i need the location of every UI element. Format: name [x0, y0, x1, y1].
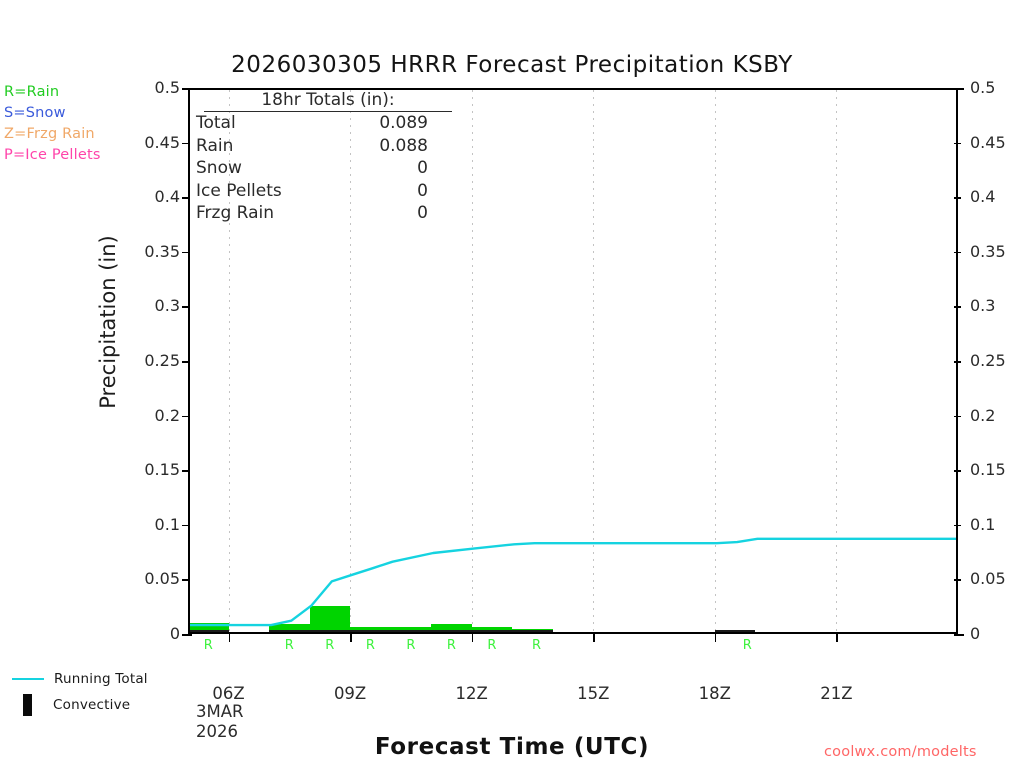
totals-box: 18hr Totals (in): Total0.089Rain0.088Sno… — [196, 90, 496, 225]
precip-type-marker: R — [399, 639, 423, 652]
y-axis-tick-label-left: 0.2 — [120, 408, 180, 424]
y-axis-tick-mark-left — [182, 470, 189, 472]
y-axis-tick-mark-right — [954, 252, 961, 254]
precip-type-marker: R — [525, 639, 549, 652]
y-axis-tick-label-left: 0.05 — [120, 571, 180, 587]
totals-row: Snow0 — [196, 157, 444, 180]
y-axis-tick-mark-left — [182, 306, 189, 308]
y-axis-tick-mark-left — [182, 634, 192, 636]
y-axis-tick-mark-left — [182, 252, 189, 254]
totals-row-label: Frzg Rain — [196, 202, 346, 225]
totals-row: Rain0.088 — [196, 135, 444, 158]
y-axis-tick-mark-right — [954, 361, 961, 363]
totals-row-value: 0 — [346, 157, 444, 180]
chart-legend: Running TotalConvective — [12, 666, 187, 718]
y-axis-tick-mark-right — [954, 143, 961, 145]
y-axis-tick-mark-right — [954, 197, 961, 199]
y-axis-tick-label-left: 0.1 — [120, 517, 180, 533]
y-axis-tick-mark-left — [182, 416, 189, 418]
totals-row-value: 0.088 — [346, 135, 444, 158]
watermark: coolwx.com/modelts — [824, 744, 977, 760]
y-axis-label: Precipitation (in) — [96, 192, 120, 452]
x-axis-tick-mark — [229, 634, 231, 642]
totals-box-title: 18hr Totals (in): — [204, 90, 452, 112]
legend-bar-swatch — [23, 694, 32, 716]
y-axis-tick-label-left: 0.4 — [120, 189, 180, 205]
y-axis-tick-label-left: 0.35 — [120, 244, 180, 260]
totals-row-value: 0 — [346, 180, 444, 203]
totals-row-label: Snow — [196, 157, 346, 180]
y-axis-tick-label-right: 0.1 — [970, 517, 995, 533]
legend-item-label: Running Total — [54, 671, 148, 687]
precip-type-marker: R — [358, 639, 382, 652]
y-axis-tick-label-right: 0.35 — [970, 244, 1006, 260]
totals-row-label: Ice Pellets — [196, 180, 346, 203]
y-axis-tick-label-right: 0.05 — [970, 571, 1006, 587]
legend-item-running-total: Running Total — [12, 666, 187, 692]
page-title: 2026030305 HRRR Forecast Precipitation K… — [0, 52, 1024, 78]
y-axis-tick-label-right: 0.4 — [970, 189, 995, 205]
totals-row-label: Total — [196, 112, 346, 135]
y-axis-tick-mark-right — [954, 634, 964, 636]
y-axis-tick-label-right: 0.5 — [970, 80, 995, 96]
legend-line-swatch — [12, 678, 44, 681]
y-axis-tick-mark-right — [954, 88, 964, 90]
y-axis-tick-label-right: 0.2 — [970, 408, 995, 424]
totals-row: Frzg Rain0 — [196, 202, 444, 225]
y-axis-tick-label-right: 0.45 — [970, 135, 1006, 151]
totals-row-label: Rain — [196, 135, 346, 158]
x-axis-tick-label: 18Z — [675, 684, 755, 703]
totals-row: Ice Pellets0 — [196, 180, 444, 203]
y-axis-tick-mark-left — [182, 197, 189, 199]
totals-row-value: 0 — [346, 202, 444, 225]
totals-row-value: 0.089 — [346, 112, 444, 135]
x-axis-date-line: 3MAR — [196, 702, 244, 722]
y-axis-tick-mark-left — [182, 143, 189, 145]
y-axis-tick-label-left: 0 — [120, 626, 180, 642]
x-axis-tick-label: 12Z — [432, 684, 512, 703]
y-axis-tick-mark-right — [954, 416, 961, 418]
precip-type-marker: R — [318, 639, 342, 652]
y-axis-tick-mark-right — [954, 579, 961, 581]
y-axis-tick-mark-left — [182, 88, 192, 90]
totals-rows: Total0.089Rain0.088Snow0Ice Pellets0Frzg… — [196, 112, 496, 225]
y-axis-tick-label-left: 0.45 — [120, 135, 180, 151]
x-axis-tick-mark — [715, 634, 717, 642]
x-axis-tick-mark — [593, 634, 595, 642]
precip-type-marker: R — [277, 639, 301, 652]
y-axis-tick-label-left: 0.25 — [120, 353, 180, 369]
y-axis-tick-label-right: 0.25 — [970, 353, 1006, 369]
x-axis-tick-label: 21Z — [796, 684, 876, 703]
y-axis-tick-mark-left — [182, 579, 189, 581]
x-axis-tick-mark — [836, 634, 838, 642]
y-axis-tick-mark-right — [954, 470, 961, 472]
x-axis-tick-label: 09Z — [310, 684, 390, 703]
y-axis-tick-label-left: 0.5 — [120, 80, 180, 96]
x-axis-tick-label: 15Z — [553, 684, 633, 703]
y-axis-tick-label-left: 0.15 — [120, 462, 180, 478]
precip-type-marker: R — [196, 639, 220, 652]
legend-item-label: Convective — [53, 697, 130, 713]
y-axis-tick-label-right: 0.3 — [970, 298, 995, 314]
y-axis-tick-mark-right — [954, 525, 961, 527]
precip-type-marker: R — [480, 639, 504, 652]
x-axis-tick-label: 06Z — [189, 684, 269, 703]
y-axis-tick-mark-left — [182, 361, 189, 363]
y-axis-tick-label-left: 0.3 — [120, 298, 180, 314]
y-axis-tick-label-right: 0 — [970, 626, 980, 642]
x-axis-tick-mark — [350, 634, 352, 642]
x-axis-tick-mark — [472, 634, 474, 642]
totals-row: Total0.089 — [196, 112, 444, 135]
precip-type-legend-item: S=Snow — [4, 103, 154, 124]
legend-item-convective: Convective — [12, 692, 187, 718]
y-axis-tick-mark-right — [954, 306, 961, 308]
precip-type-marker: R — [735, 639, 759, 652]
y-axis-tick-mark-left — [182, 525, 189, 527]
precip-type-marker: R — [439, 639, 463, 652]
y-axis-tick-label-right: 0.15 — [970, 462, 1006, 478]
